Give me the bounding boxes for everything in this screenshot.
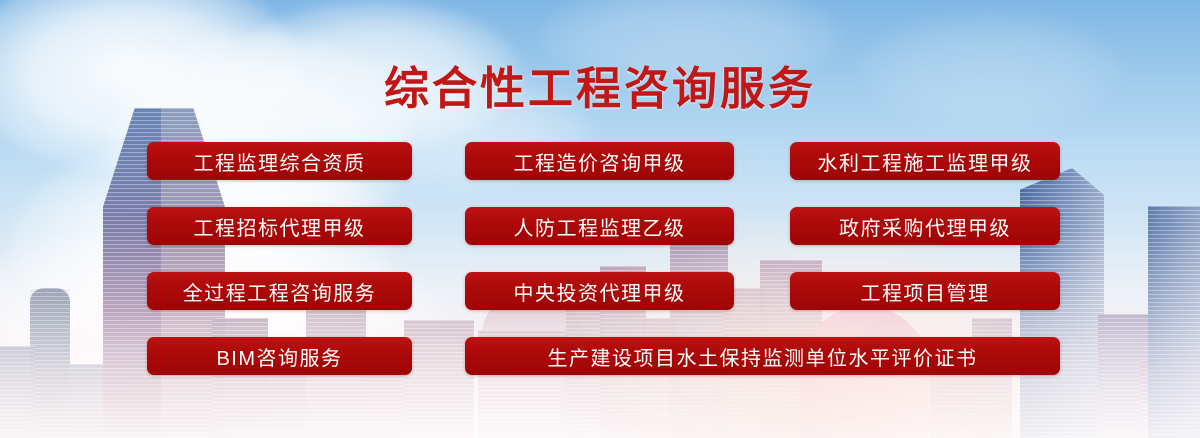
qualification-row: 工程招标代理甲级 人防工程监理乙级 政府采购代理甲级 bbox=[0, 207, 1200, 245]
qualification-row: BIM咨询服务 生产建设项目水土保持监测单位水平评价证书 bbox=[0, 337, 1200, 375]
qualification-badge[interactable]: 工程项目管理 bbox=[790, 272, 1060, 310]
qualification-badge[interactable]: BIM咨询服务 bbox=[147, 337, 412, 375]
banner-content: 综合性工程咨询服务 工程监理综合资质 工程造价咨询甲级 水利工程施工监理甲级 工… bbox=[0, 0, 1200, 438]
qualification-banner: 综合性工程咨询服务 工程监理综合资质 工程造价咨询甲级 水利工程施工监理甲级 工… bbox=[0, 0, 1200, 438]
qualification-grid: 工程监理综合资质 工程造价咨询甲级 水利工程施工监理甲级 工程招标代理甲级 人防… bbox=[0, 142, 1200, 402]
qualification-badge[interactable]: 工程造价咨询甲级 bbox=[465, 142, 734, 180]
qualification-badge[interactable]: 工程监理综合资质 bbox=[147, 142, 412, 180]
qualification-row: 工程监理综合资质 工程造价咨询甲级 水利工程施工监理甲级 bbox=[0, 142, 1200, 180]
qualification-badge[interactable]: 全过程工程咨询服务 bbox=[147, 272, 412, 310]
page-title: 综合性工程咨询服务 bbox=[0, 52, 1200, 117]
qualification-badge[interactable]: 中央投资代理甲级 bbox=[465, 272, 734, 310]
qualification-badge-wide[interactable]: 生产建设项目水土保持监测单位水平评价证书 bbox=[465, 337, 1060, 375]
qualification-badge[interactable]: 人防工程监理乙级 bbox=[465, 207, 734, 245]
qualification-badge[interactable]: 政府采购代理甲级 bbox=[790, 207, 1060, 245]
qualification-badge[interactable]: 水利工程施工监理甲级 bbox=[790, 142, 1060, 180]
qualification-row: 全过程工程咨询服务 中央投资代理甲级 工程项目管理 bbox=[0, 272, 1200, 310]
qualification-badge[interactable]: 工程招标代理甲级 bbox=[147, 207, 412, 245]
